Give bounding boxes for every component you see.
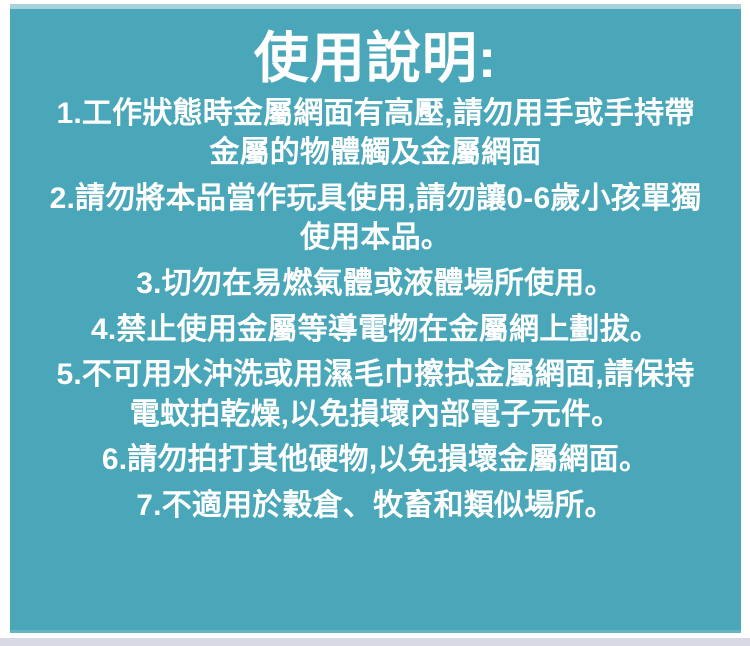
instruction-card: 使用說明: 1.工作狀態時金屬網面有高壓,請勿用手或手持帶金屬的物體觸及金屬網面… [10, 4, 741, 633]
instruction-item-7: 7.不適用於穀倉、牧畜和類似場所。 [24, 486, 727, 526]
instruction-item-3: 3.切勿在易燃氣體或液體場所使用。 [24, 264, 727, 304]
instruction-item-5: 5.不可用水沖洗或用濕毛巾擦拭金屬網面,請保持電蚊拍乾燥,以免損壞內部電子元件。 [24, 355, 727, 434]
instruction-item-2: 2.請勿將本品當作玩具使用,請勿讓0-6歲小孩單獨使用本品。 [24, 179, 727, 258]
instruction-list: 1.工作狀態時金屬網面有高壓,請勿用手或手持帶金屬的物體觸及金屬網面 2.請勿將… [24, 94, 727, 532]
page-title: 使用說明: [254, 28, 497, 90]
instruction-item-1: 1.工作狀態時金屬網面有高壓,請勿用手或手持帶金屬的物體觸及金屬網面 [24, 94, 727, 173]
card-top-highlight [10, 4, 741, 9]
instruction-item-6: 6.請勿拍打其他硬物,以免損壞金屬網面。 [24, 440, 727, 480]
footer-strip [0, 638, 750, 646]
instruction-page: 使用說明: 1.工作狀態時金屬網面有高壓,請勿用手或手持帶金屬的物體觸及金屬網面… [0, 0, 750, 646]
instruction-item-4: 4.禁止使用金屬等導電物在金屬網上劃拔。 [24, 310, 727, 350]
